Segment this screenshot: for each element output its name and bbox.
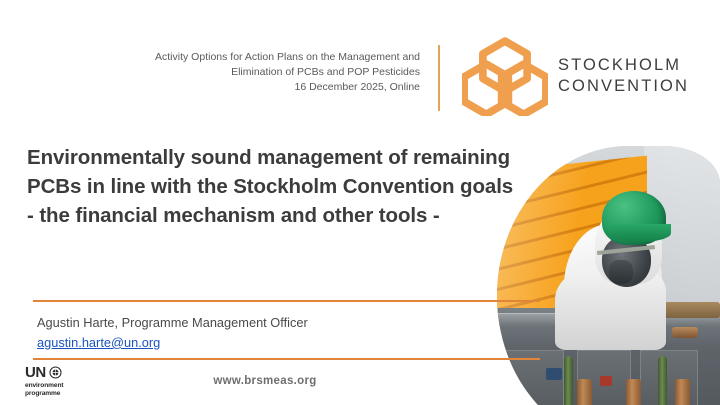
event-header-line-1: Activity Options for Action Plans on the…: [90, 50, 420, 65]
logo-wordmark: STOCKHOLM CONVENTION: [558, 55, 689, 97]
photo-bushing-top: [672, 327, 698, 338]
hexagon-logo-icon: [462, 36, 548, 116]
event-header: Activity Options for Action Plans on the…: [90, 50, 420, 96]
photo-worker-hardhat-brim: [609, 224, 671, 242]
slide-title-line-2: PCBs in line with the Stockholm Conventi…: [27, 172, 587, 201]
footer-website: www.brsmeas.org: [0, 375, 720, 387]
divider-above-author: [33, 300, 540, 302]
slide-title-line-3: - the financial mechanism and other tool…: [27, 201, 587, 230]
slide-title-line-1: Environmentally sound management of rema…: [27, 143, 587, 172]
author-email-link[interactable]: agustin.harte@un.org: [37, 335, 160, 350]
divider-below-author: [33, 358, 540, 360]
header-vertical-divider: [438, 45, 440, 111]
event-header-line-2: Elimination of PCBs and POP Pesticides: [90, 65, 420, 80]
slide-title: Environmentally sound management of rema…: [27, 143, 587, 230]
author-name-role: Agustin Harte, Programme Management Offi…: [37, 313, 308, 333]
logo-word-convention: CONVENTION: [558, 76, 689, 97]
photo-worker-respirator-filter: [609, 260, 634, 284]
stockholm-convention-logo: STOCKHOLM CONVENTION: [462, 36, 689, 116]
logo-word-stockholm: STOCKHOLM: [558, 55, 689, 76]
unep-logo-line-programme: programme: [25, 390, 63, 398]
event-header-line-3: 16 December 2025, Online: [90, 80, 420, 95]
author-block: Agustin Harte, Programme Management Offi…: [37, 313, 308, 353]
